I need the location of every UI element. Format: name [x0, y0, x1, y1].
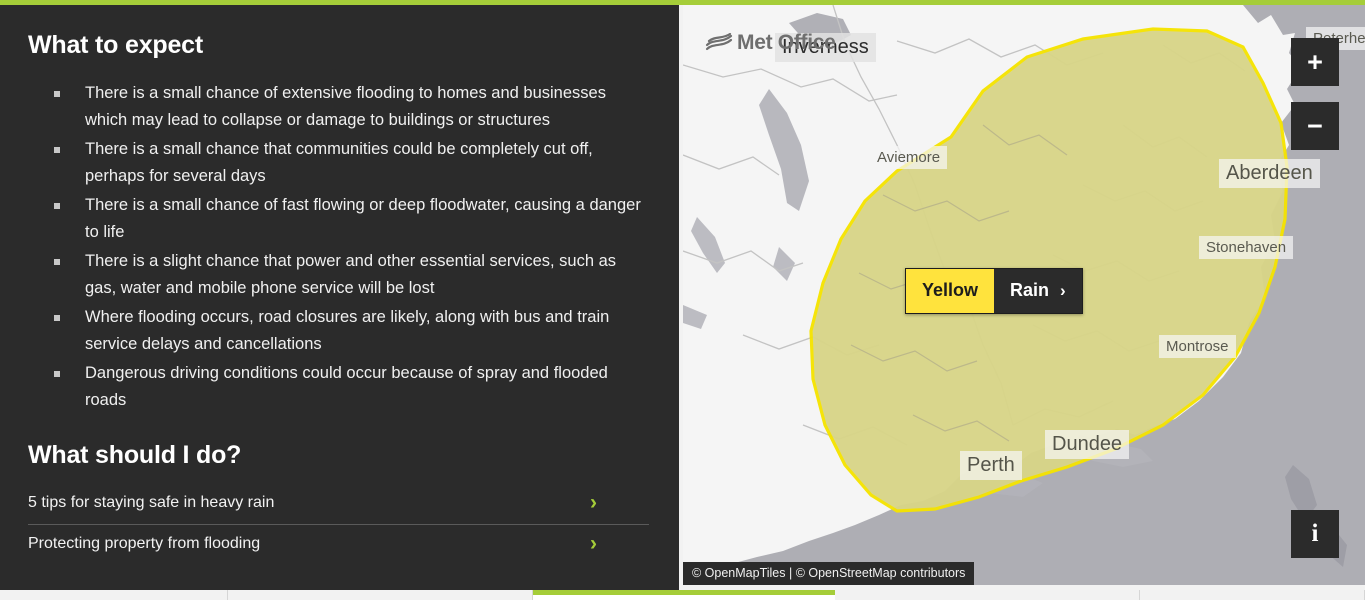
expectation-item: There is a small chance of fast flowing … — [54, 192, 649, 246]
map-place-label: Dundee — [1045, 430, 1129, 459]
warning-detail-page: What to expect There is a small chance o… — [0, 0, 1365, 600]
warning-map[interactable]: Met Office InvernessAviemorePeterheadAbe… — [683, 5, 1365, 585]
warning-type-label: Rain › — [994, 269, 1082, 313]
advice-link-label: 5 tips for staying safe in heavy rain — [28, 494, 274, 512]
chevron-right-icon: › — [590, 492, 597, 513]
expectation-item: There is a small chance that communities… — [54, 136, 649, 190]
chevron-right-icon: › — [590, 533, 597, 554]
advice-link-list: 5 tips for staying safe in heavy rain›Pr… — [28, 484, 649, 565]
map-place-label: Perth — [960, 451, 1022, 480]
map-place-label: Stonehaven — [1199, 236, 1293, 259]
expectation-item: There is a slight chance that power and … — [54, 248, 649, 302]
what-to-expect-list: There is a small chance of extensive flo… — [54, 80, 649, 414]
expectation-item: There is a small chance of extensive flo… — [54, 80, 649, 134]
warning-level-label: Yellow — [906, 269, 994, 313]
zoom-in-button[interactable]: + — [1291, 38, 1339, 86]
met-office-wave-icon — [705, 33, 733, 53]
met-office-logo-text: Met Office — [737, 31, 836, 55]
warning-details-panel: What to expect There is a small chance o… — [0, 5, 679, 590]
map-info-button[interactable]: i — [1291, 510, 1339, 558]
tab-strip-active-cell[interactable] — [533, 590, 835, 600]
tab-strip-cell[interactable] — [1140, 590, 1365, 600]
warning-badge[interactable]: Yellow Rain › — [905, 268, 1083, 314]
zoom-out-button[interactable]: − — [1291, 102, 1339, 150]
map-place-label: Montrose — [1159, 335, 1236, 358]
tab-strip-cell[interactable] — [0, 590, 228, 600]
chevron-right-icon: › — [1060, 281, 1066, 301]
advice-link-label: Protecting property from flooding — [28, 535, 260, 553]
map-attribution: © OpenMapTiles | © OpenStreetMap contrib… — [683, 562, 974, 585]
map-place-label: Aberdeen — [1219, 159, 1320, 188]
expectation-item: Where flooding occurs, road closures are… — [54, 304, 649, 358]
page-title: What to expect — [28, 31, 649, 60]
advice-link[interactable]: 5 tips for staying safe in heavy rain› — [28, 484, 649, 525]
advice-link[interactable]: Protecting property from flooding› — [28, 525, 649, 565]
tab-strip-cell[interactable] — [228, 590, 533, 600]
warning-type-text: Rain — [1010, 280, 1049, 301]
map-place-label: Aviemore — [870, 146, 947, 169]
met-office-logo: Met Office — [705, 31, 836, 55]
tab-strip-cell[interactable] — [835, 590, 1140, 600]
bottom-tab-strip — [0, 590, 1365, 600]
advice-heading: What should I do? — [28, 441, 649, 470]
expectation-item: Dangerous driving conditions could occur… — [54, 360, 649, 414]
